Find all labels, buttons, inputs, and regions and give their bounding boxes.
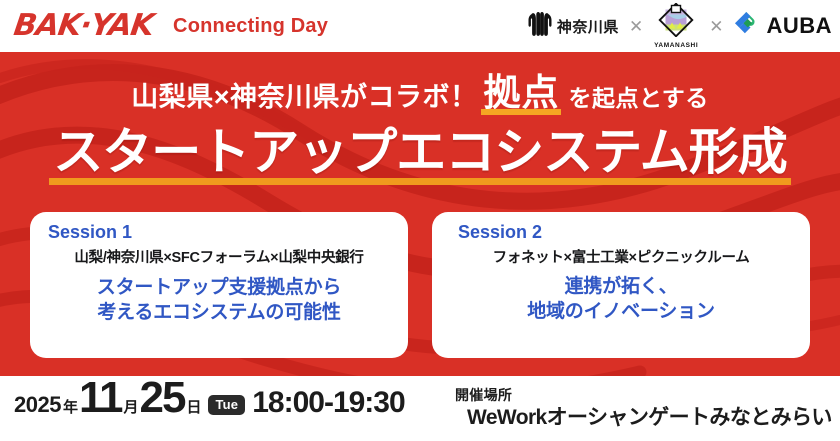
brand-tagline: Connecting Day [173,16,328,36]
page-title: スタートアップエコシステム形成 [49,126,791,185]
banner-subtitle: 山梨県×神奈川県がコラボ！ 拠点 を起点とする [0,74,840,113]
venue-label: 開催場所 [455,387,832,404]
session-card-1[interactable]: Session 1 山梨/神奈川県×SFCフォーラム×山梨中央銀行 スタートアッ… [30,212,408,358]
event-year: 2025 [14,392,61,418]
session-2-organizations: フォネット×富士工業×ピクニックルーム [446,250,796,267]
session-1-theme-line1: スタートアップ支援拠点から [44,276,394,300]
event-month-unit: 月 [123,396,138,417]
event-venue: 開催場所 WeWorkオーシャンゲートみなとみらい [455,376,832,441]
session-1-organizations: 山梨/神奈川県×SFCフォーラム×山梨中央銀行 [44,250,394,267]
event-time: 18:00-19:30 [252,386,404,420]
session-2-label: Session 2 [458,223,796,243]
title-underline [49,178,791,185]
venue-name: WeWorkオーシャンゲートみなとみらい [467,405,832,430]
partner-logos: 神奈川県 ✕ [528,0,832,52]
kanagawa-emblem-icon [528,11,552,42]
page-title-text: スタートアップエコシステム形成 [53,124,787,180]
brand-block: BAK·YAK Connecting Day [14,11,328,41]
footer-bar: 2025 年 11 月 25 日 Tue 18:00-19:30 開催場所 We… [0,376,840,441]
session-1-label: Session 1 [48,223,394,243]
partner-logo-auba: AUBA [733,10,832,43]
session-2-theme-line2: 地域のイノベーション [446,300,796,324]
session-1-theme: スタートアップ支援拠点から 考えるエコシステムの可能性 [44,276,394,325]
partner-logo-yamanashi: YAMANASHI [653,3,699,49]
separator-x-icon-2: ✕ [708,18,724,35]
subtitle-before-text: 山梨県×神奈川県がコラボ！ [131,83,477,113]
banner-title-wrap: スタートアップエコシステム形成 [0,126,840,185]
event-datetime: 2025 年 11 月 25 日 Tue 18:00-19:30 [14,376,405,441]
yamanashi-fuji-diamond-icon [653,3,699,42]
session-2-theme-line1: 連携が拓く、 [446,275,796,299]
event-day: 25 [140,376,185,420]
subtitle-highlight-text: 拠点 [483,74,559,113]
weekday-badge: Tue [208,395,245,415]
subtitle-after-text: を起点とする [568,85,708,113]
header-bar: BAK·YAK Connecting Day 神奈川県 [0,0,840,52]
highlight-underline [481,109,561,115]
event-month: 11 [79,376,122,420]
session-card-2[interactable]: Session 2 フォネット×富士工業×ピクニックルーム 連携が拓く、 地域の… [432,212,810,358]
session-cards: Session 1 山梨/神奈川県×SFCフォーラム×山梨中央銀行 スタートアッ… [0,212,840,358]
session-1-theme-line2: 考えるエコシステムの可能性 [44,301,394,325]
kanagawa-label: 神奈川県 [557,16,619,37]
separator-x-icon-1: ✕ [628,18,644,35]
subtitle-highlight-wrap: 拠点 [483,74,559,113]
hero-banner: 山梨県×神奈川県がコラボ！ 拠点 を起点とする スタートアップエコシステム形成 … [0,52,840,376]
auba-label: AUBA [766,15,832,37]
event-day-unit: 日 [186,396,201,417]
event-year-unit: 年 [63,396,78,417]
session-2-theme: 連携が拓く、 地域のイノベーション [446,275,796,324]
event-poster: BAK·YAK Connecting Day 神奈川県 [0,0,840,441]
yamanashi-label: YAMANASHI [654,42,698,49]
partner-logo-kanagawa: 神奈川県 [528,11,619,42]
bakyak-logo: BAK·YAK [12,11,155,41]
auba-diamond-icon [733,10,761,43]
